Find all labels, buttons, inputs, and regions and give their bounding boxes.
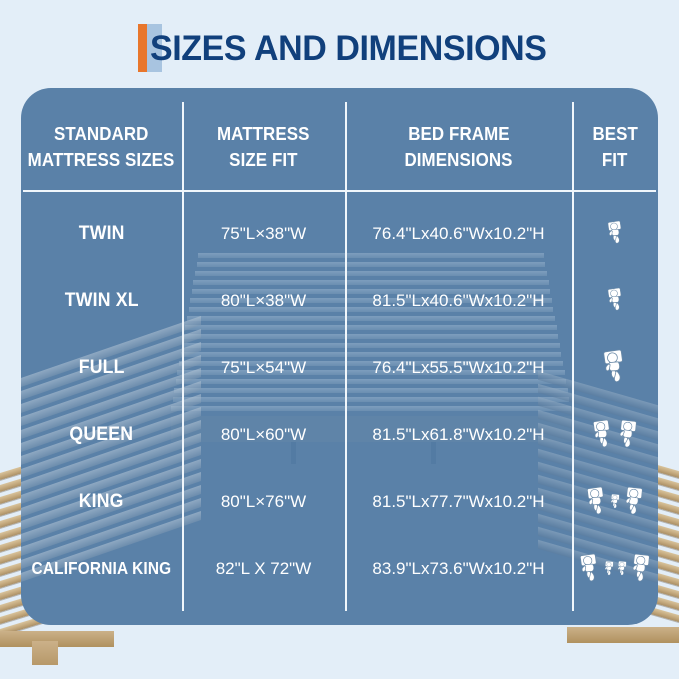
cell-standard-mattress-size: QUEEN bbox=[21, 401, 182, 468]
cell-best-fit bbox=[572, 535, 658, 602]
two-adults-one-child-sleeping-icon bbox=[585, 468, 645, 535]
accent-bar-orange bbox=[138, 24, 147, 72]
child-sleeping-icon bbox=[603, 561, 615, 577]
column-header-line1: STANDARD bbox=[54, 124, 148, 145]
adult-sleeping-icon bbox=[606, 221, 625, 246]
cell-standard-mattress-size: TWIN bbox=[21, 200, 182, 267]
adult-sleeping-icon bbox=[601, 350, 628, 385]
column-header-bed-frame-dimensions: BED FRAME DIMENSIONS bbox=[345, 108, 572, 186]
table-row: TWIN75"L×38"W76.4"Lx40.6"Wx10.2"H bbox=[21, 200, 658, 267]
table-row: TWIN XL80"L×38"W81.5"Lx40.6"Wx10.2"H bbox=[21, 267, 658, 334]
cell-best-fit bbox=[572, 468, 658, 535]
adult-sleeping-icon bbox=[616, 420, 639, 450]
cell-mattress-size-fit: 82"L X 72"W bbox=[182, 535, 345, 602]
adult-sleeping-icon bbox=[578, 554, 601, 584]
cell-mattress-size-fit: 75"L×38"W bbox=[182, 200, 345, 267]
column-header-best-fit: BEST FIT bbox=[572, 108, 658, 186]
cell-standard-mattress-size: FULL bbox=[21, 334, 182, 401]
table-row: QUEEN80"L×60"W81.5"Lx61.8"Wx10.2"H bbox=[21, 401, 658, 468]
cell-standard-mattress-size: KING bbox=[21, 468, 182, 535]
table-row: FULL75"L×54"W76.4"Lx55.5"Wx10.2"H bbox=[21, 334, 658, 401]
column-header-line1: BEST bbox=[592, 124, 638, 145]
cell-mattress-size-fit: 80"L×38"W bbox=[182, 267, 345, 334]
mattress-size-label: TWIN bbox=[79, 223, 125, 245]
cell-mattress-size-fit: 80"L×76"W bbox=[182, 468, 345, 535]
child-sleeping-icon bbox=[609, 494, 621, 510]
adult-sleeping-icon bbox=[622, 487, 645, 517]
cell-bed-frame-dimensions: 81.5"Lx40.6"Wx10.2"H bbox=[345, 267, 572, 334]
adult-sleeping-icon bbox=[606, 288, 625, 313]
column-header-line2: MATTRESS SIZES bbox=[28, 150, 175, 171]
column-header-line1: MATTRESS bbox=[217, 124, 310, 145]
cell-bed-frame-dimensions: 83.9"Lx73.6"Wx10.2"H bbox=[345, 535, 572, 602]
cell-best-fit bbox=[572, 401, 658, 468]
cell-bed-frame-dimensions: 76.4"Lx55.5"Wx10.2"H bbox=[345, 334, 572, 401]
column-header-line2: SIZE FIT bbox=[229, 150, 297, 171]
cell-mattress-size-fit: 80"L×60"W bbox=[182, 401, 345, 468]
mattress-size-label: QUEEN bbox=[70, 424, 134, 446]
cell-standard-mattress-size: TWIN XL bbox=[21, 267, 182, 334]
sizes-table-panel: STANDARD MATTRESS SIZES MATTRESS SIZE FI… bbox=[21, 88, 658, 625]
table-row: CALIFORNIA KING82"L X 72"W83.9"Lx73.6"Wx… bbox=[21, 535, 658, 602]
adult-sleeping-icon bbox=[585, 487, 608, 517]
cell-bed-frame-dimensions: 81.5"Lx61.8"Wx10.2"H bbox=[345, 401, 572, 468]
column-header-line2: DIMENSIONS bbox=[404, 150, 512, 171]
two-adults-sleeping-icon bbox=[591, 401, 638, 468]
cell-best-fit bbox=[572, 334, 658, 401]
cell-bed-frame-dimensions: 81.5"Lx77.7"Wx10.2"H bbox=[345, 468, 572, 535]
cell-best-fit bbox=[572, 200, 658, 267]
mattress-size-label: FULL bbox=[79, 357, 125, 379]
table-row: KING80"L×76"W81.5"Lx77.7"Wx10.2"H bbox=[21, 468, 658, 535]
one-adult-sleeping-icon bbox=[601, 334, 628, 401]
one-adult-sleeping-icon bbox=[606, 267, 625, 334]
column-header-mattress-size-fit: MATTRESS SIZE FIT bbox=[182, 108, 345, 186]
mattress-size-label: KING bbox=[79, 491, 124, 513]
column-header-standard-mattress-sizes: STANDARD MATTRESS SIZES bbox=[21, 108, 182, 186]
two-adults-two-children-sleeping-icon bbox=[578, 535, 651, 602]
column-header-line1: BED FRAME bbox=[408, 124, 509, 145]
adult-sleeping-icon bbox=[591, 420, 614, 450]
one-adult-sleeping-icon bbox=[606, 200, 625, 267]
page-title: SIZES AND DIMENSIONS bbox=[150, 31, 547, 66]
mattress-size-label: TWIN XL bbox=[65, 290, 139, 312]
cell-standard-mattress-size: CALIFORNIA KING bbox=[21, 535, 182, 602]
adult-sleeping-icon bbox=[629, 554, 652, 584]
child-sleeping-icon bbox=[616, 561, 628, 577]
cell-bed-frame-dimensions: 76.4"Lx40.6"Wx10.2"H bbox=[345, 200, 572, 267]
cell-best-fit bbox=[572, 267, 658, 334]
page-title-container: SIZES AND DIMENSIONS bbox=[138, 24, 559, 72]
cell-mattress-size-fit: 75"L×54"W bbox=[182, 334, 345, 401]
header-divider bbox=[23, 190, 656, 192]
mattress-size-label: CALIFORNIA KING bbox=[32, 558, 172, 579]
column-header-line2: FIT bbox=[602, 150, 628, 171]
